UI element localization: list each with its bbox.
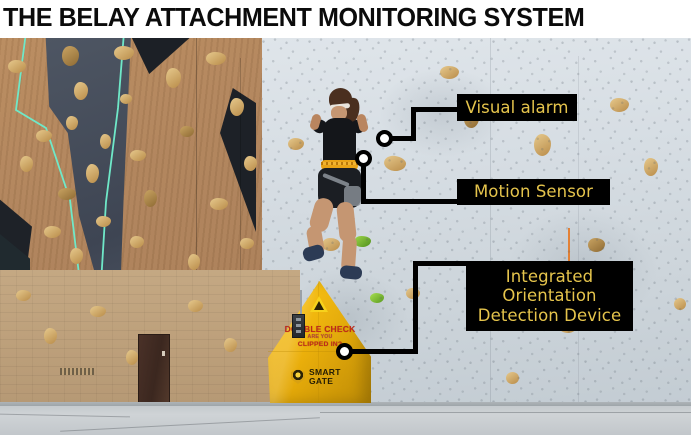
smart-gate-brand: SMART GATE [309, 368, 341, 385]
orientation-device-label-line-1: Integrated [506, 267, 593, 287]
smart-gate-device: DOUBLE CHECK ARE YOU CLIPPED IN? SMART G… [268, 281, 371, 403]
device-cable [300, 290, 302, 316]
brand-line-2: GATE [309, 377, 341, 386]
infographic-root: THE BELAY ATTACHMENT MONITORING SYSTEM [0, 0, 691, 435]
visual-alarm-connector-vertical [411, 107, 416, 141]
gym-floor [0, 406, 691, 435]
motion-sensor-label-line-1: Motion Sensor [474, 182, 593, 202]
wall-mounted-sensor-box [292, 314, 305, 338]
motion-sensor-marker[interactable] [355, 150, 372, 167]
climbing-gym-photo: DOUBLE CHECK ARE YOU CLIPPED IN? SMART G… [0, 38, 691, 435]
orientation-device-connector-horizontal [352, 349, 418, 354]
orientation-device-connector-vertical [413, 261, 418, 354]
orientation-device-label-line-3: Detection Device [478, 306, 621, 326]
visual-alarm-label-line-1: Visual alarm [465, 98, 568, 118]
orientation-device-connector-horizontal-upper [413, 261, 468, 266]
page-title: THE BELAY ATTACHMENT MONITORING SYSTEM [3, 0, 678, 36]
visual-alarm-connector-horizontal-upper [411, 107, 461, 112]
visual-alarm-marker[interactable] [376, 130, 393, 147]
climber-figure [300, 86, 386, 298]
orientation-device-label[interactable]: Integrated Orientation Detection Device [466, 261, 633, 331]
orientation-device-marker[interactable] [336, 343, 353, 360]
orientation-device-label-line-2: Orientation [502, 286, 596, 306]
gym-door[interactable] [138, 334, 170, 410]
motion-sensor-label[interactable]: Motion Sensor [457, 179, 610, 205]
motion-sensor-connector-horizontal [361, 199, 460, 204]
visual-alarm-label[interactable]: Visual alarm [457, 94, 577, 121]
